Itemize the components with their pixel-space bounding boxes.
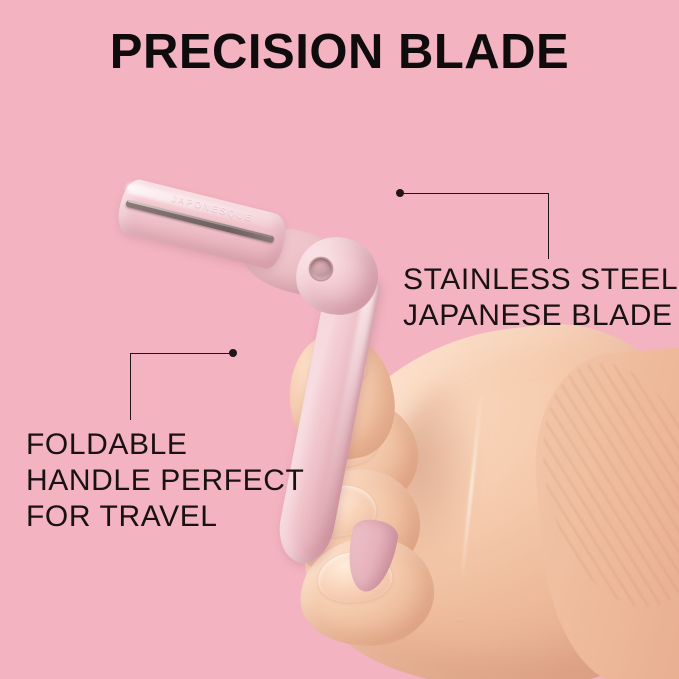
callout-line: FOR TRAVEL — [26, 499, 304, 535]
callout-line: HANDLE PERFECT — [26, 463, 304, 499]
product-feature-image: JAPONESQUE PRECISION BLADE STAINLESS STE… — [0, 0, 679, 679]
callout-line: JAPANESE BLADE — [403, 298, 678, 334]
page-title: PRECISION BLADE — [0, 28, 679, 77]
product-photo: JAPONESQUE — [0, 0, 679, 679]
callout-stainless-steel: STAINLESS STEEL JAPANESE BLADE — [403, 262, 678, 334]
callout-line: STAINLESS STEEL — [403, 262, 678, 298]
leader-vertical-segment — [548, 193, 549, 259]
razor-pivot-hole — [310, 258, 332, 280]
leader-horizontal-segment — [400, 193, 549, 194]
callout-line: FOLDABLE — [26, 427, 304, 463]
callout-foldable-handle: FOLDABLE HANDLE PERFECT FOR TRAVEL — [26, 427, 304, 535]
leader-horizontal-segment — [130, 353, 231, 354]
leader-vertical-segment — [130, 353, 131, 420]
